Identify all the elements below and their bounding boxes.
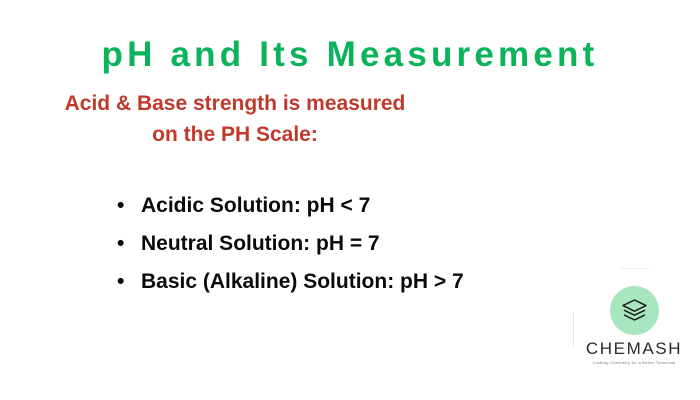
page-title: pH and Its Measurement [0, 32, 700, 78]
list-item: • Basic (Alkaline) Solution: pH > 7 [112, 263, 464, 301]
slide-canvas: pH and Its Measurement Acid & Base stren… [0, 0, 700, 400]
brand-tagline: Crafting Chemistry for a Better Tomorrow [563, 359, 700, 366]
brand-name: CHEMASH [563, 339, 700, 358]
list-item-label: Acidic Solution: pH < 7 [141, 194, 370, 217]
list-item-label: Basic (Alkaline) Solution: pH > 7 [141, 270, 464, 293]
subtitle-line-1: Acid & Base strength is measured [40, 88, 430, 119]
brand-logo: CHEMASH Crafting Chemistry for a Better … [563, 286, 700, 378]
stacked-layers-icon [610, 286, 659, 335]
bullet-dot-icon: • [117, 225, 124, 263]
list-item-label: Neutral Solution: pH = 7 [141, 232, 380, 255]
bullet-list: • Acidic Solution: pH < 7 • Neutral Solu… [112, 187, 464, 301]
list-item: • Neutral Solution: pH = 7 [112, 225, 464, 263]
subtitle-line-2: on the PH Scale: [40, 119, 430, 150]
bullet-dot-icon: • [117, 187, 124, 225]
bullet-dot-icon: • [117, 263, 124, 301]
list-item: • Acidic Solution: pH < 7 [112, 187, 464, 225]
decorative-horizontal-rule [620, 268, 649, 269]
subtitle-block: Acid & Base strength is measured on the … [40, 88, 430, 150]
